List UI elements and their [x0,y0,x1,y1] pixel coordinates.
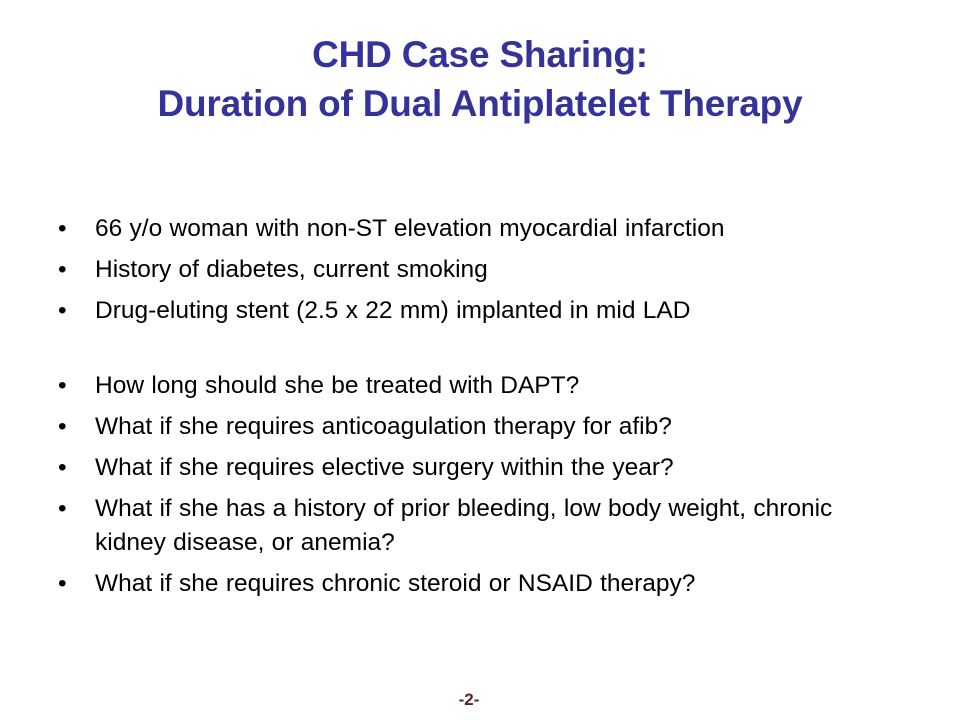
list-item-label: What if she requires anticoagulation the… [95,410,932,444]
list-item-label: History of diabetes, current smoking [95,253,932,287]
bullet-dot-icon: • [52,369,95,403]
slide-bullet-list: • 66 y/o woman with non-ST elevation myo… [52,212,932,608]
list-item: • Drug-eluting stent (2.5 x 22 mm) impla… [52,294,932,328]
slide-title-line-2: Duration of Dual Antiplatelet Therapy [0,79,960,128]
bullet-dot-icon: • [52,567,95,601]
list-item: • 66 y/o woman with non-ST elevation myo… [52,212,932,246]
bullet-dot-icon: • [52,492,95,526]
list-item-label: What if she requires chronic steroid or … [95,567,932,601]
slide-title: CHD Case Sharing: Duration of Dual Antip… [0,30,960,128]
list-item-label: What if she has a history of prior bleed… [95,492,855,560]
bullet-dot-icon: • [52,410,95,444]
list-item: • What if she requires chronic steroid o… [52,567,932,601]
list-item-label: What if she requires elective surgery wi… [95,451,932,485]
list-item-label: Drug-eluting stent (2.5 x 22 mm) implant… [95,294,932,328]
list-item: • How long should she be treated with DA… [52,369,932,403]
list-item: • What if she has a history of prior ble… [52,492,932,560]
slide-canvas: CHD Case Sharing: Duration of Dual Antip… [0,0,960,720]
list-item-label: 66 y/o woman with non-ST elevation myoca… [95,212,932,246]
list-item: • What if she requires anticoagulation t… [52,410,932,444]
list-item: • History of diabetes, current smoking [52,253,932,287]
page-number: -2- [0,690,938,710]
bullet-dot-icon: • [52,451,95,485]
list-item: • What if she requires elective surgery … [52,451,932,485]
slide-title-line-1: CHD Case Sharing: [0,30,960,79]
bullet-dot-icon: • [52,253,95,287]
bullet-dot-icon: • [52,294,95,328]
bullet-dot-icon: • [52,212,95,246]
list-item-label: How long should she be treated with DAPT… [95,369,932,403]
